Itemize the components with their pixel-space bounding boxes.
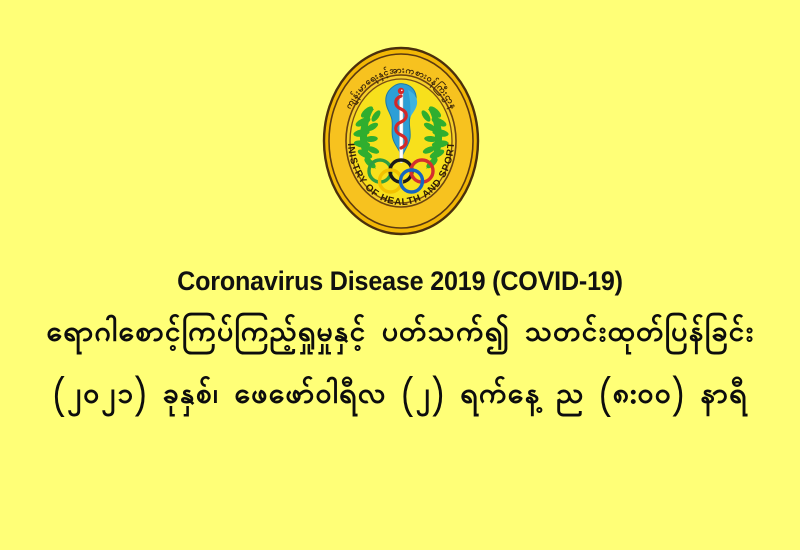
ministry-seal-logo: ကျန်းမာရေးနှင့်အားကစားဝန်ကြီးဌာန MINISTR… bbox=[322, 46, 480, 236]
announcement-datetime-myanmar: (၂၀၂၁) ခုနှစ်၊ ဖေဖော်ဝါရီလ (၂) ရက်နေ့ ည … bbox=[0, 353, 800, 415]
announcement-text-block: Coronavirus Disease 2019 (COVID-19) ရောဂ… bbox=[0, 268, 800, 416]
page-title-english: Coronavirus Disease 2019 (COVID-19) bbox=[28, 268, 772, 297]
announcement-subject-myanmar: ရောဂါစောင့်ကြပ်ကြည့်ရှုမှုနှင့် ပတ်သက်၍ … bbox=[0, 297, 800, 353]
covid-announcement-slide: ကျန်းမာရေးနှင့်အားကစားဝန်ကြီးဌာန MINISTR… bbox=[0, 0, 800, 550]
